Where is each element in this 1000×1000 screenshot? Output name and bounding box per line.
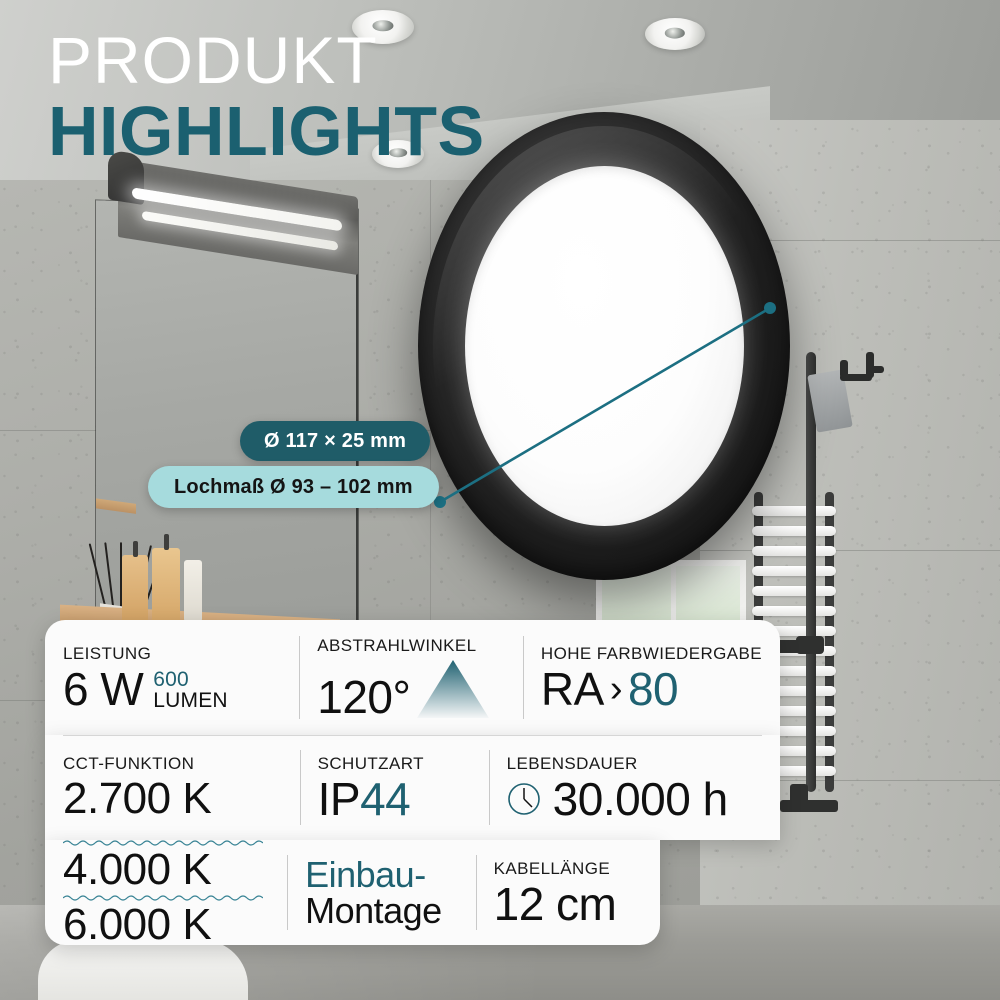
spec-lifetime: LEBENSDAUER 30.000 h bbox=[489, 735, 780, 840]
lumen-number: 600 bbox=[153, 669, 228, 690]
spec-cri: HOHE FARBWIEDERGABE RA › 80 bbox=[523, 620, 780, 735]
spec-lifetime-caption: LEBENSDAUER bbox=[507, 754, 762, 774]
title-line-2: HIGHLIGHTS bbox=[48, 97, 485, 166]
spec-row-1: LEISTUNG 6 W 600 LUMEN ABSTRAHLWINKEL 12… bbox=[45, 620, 780, 735]
spec-protection-caption: SCHUTZART bbox=[318, 754, 471, 774]
badge-dimensions: Ø 117 × 25 mm bbox=[240, 421, 430, 461]
spec-cri-operator: › bbox=[610, 670, 622, 708]
spec-cable: KABELLÄNGE 12 cm bbox=[476, 840, 660, 945]
product-highlight-image: PRODUKT HIGHLIGHTS Ø 117 × 25 mm Lochmaß… bbox=[0, 0, 1000, 1000]
spec-protection: SCHUTZART IP 44 bbox=[300, 735, 489, 840]
cct-value-2: 4.000 K bbox=[63, 847, 269, 893]
spec-protection-value: 44 bbox=[360, 776, 410, 822]
spec-cct-caption: CCT-FUNKTION bbox=[63, 754, 282, 774]
diameter-measure-line bbox=[418, 112, 790, 580]
cct-value-3: 6.000 K bbox=[63, 902, 269, 948]
spec-beam-angle: ABSTRAHLWINKEL 120° bbox=[299, 620, 523, 735]
spec-cable-value: 12 cm bbox=[494, 881, 642, 927]
spec-cri-caption: HOHE FARBWIEDERGABE bbox=[541, 644, 762, 664]
spec-mounting: Einbau- Montage bbox=[287, 840, 476, 945]
mounting-line-2: Montage bbox=[305, 893, 458, 929]
spec-row-3: 4.000 K 6.000 K Einbau- Montage KABELLÄN… bbox=[45, 840, 660, 945]
spec-cable-caption: KABELLÄNGE bbox=[494, 859, 642, 879]
cct-value-1: 2.700 K bbox=[63, 776, 282, 822]
wall-hook-icon bbox=[840, 352, 884, 382]
title-line-1: PRODUKT bbox=[48, 28, 485, 93]
spec-cri-prefix: RA bbox=[541, 666, 604, 712]
spec-panel: LEISTUNG 6 W 600 LUMEN ABSTRAHLWINKEL 12… bbox=[45, 620, 780, 945]
spec-power-value: 6 W bbox=[63, 666, 143, 712]
spec-cct: CCT-FUNKTION 2.700 K bbox=[45, 735, 300, 840]
spec-row-2: CCT-FUNKTION 2.700 K SCHUTZART IP 44 LEB… bbox=[45, 735, 780, 840]
beam-cone-icon bbox=[416, 658, 490, 720]
bottle bbox=[122, 555, 148, 623]
spec-power-caption: LEISTUNG bbox=[63, 644, 281, 664]
spec-power: LEISTUNG 6 W 600 LUMEN bbox=[45, 620, 299, 735]
spec-protection-prefix: IP bbox=[318, 776, 360, 822]
ceiling-spot-icon bbox=[645, 18, 705, 50]
page-title: PRODUKT HIGHLIGHTS bbox=[48, 28, 485, 165]
bottle bbox=[152, 548, 180, 624]
clock-icon bbox=[507, 782, 541, 816]
lumen-unit: LUMEN bbox=[153, 690, 228, 711]
spec-power-lumen: 600 LUMEN bbox=[153, 669, 228, 712]
spec-lifetime-value: 30.000 h bbox=[553, 776, 728, 822]
spec-beam-value: 120° bbox=[317, 674, 410, 720]
spec-cri-value: 80 bbox=[628, 666, 678, 712]
badge-cutout: Lochmaß Ø 93 – 102 mm bbox=[148, 466, 439, 508]
mounting-line-1: Einbau- bbox=[305, 857, 458, 893]
spec-cct-lower: 4.000 K 6.000 K bbox=[45, 840, 287, 945]
spec-beam-caption: ABSTRAHLWINKEL bbox=[317, 636, 505, 656]
product-downlight bbox=[418, 112, 790, 580]
bottle bbox=[184, 560, 202, 622]
toilet bbox=[38, 940, 248, 1000]
